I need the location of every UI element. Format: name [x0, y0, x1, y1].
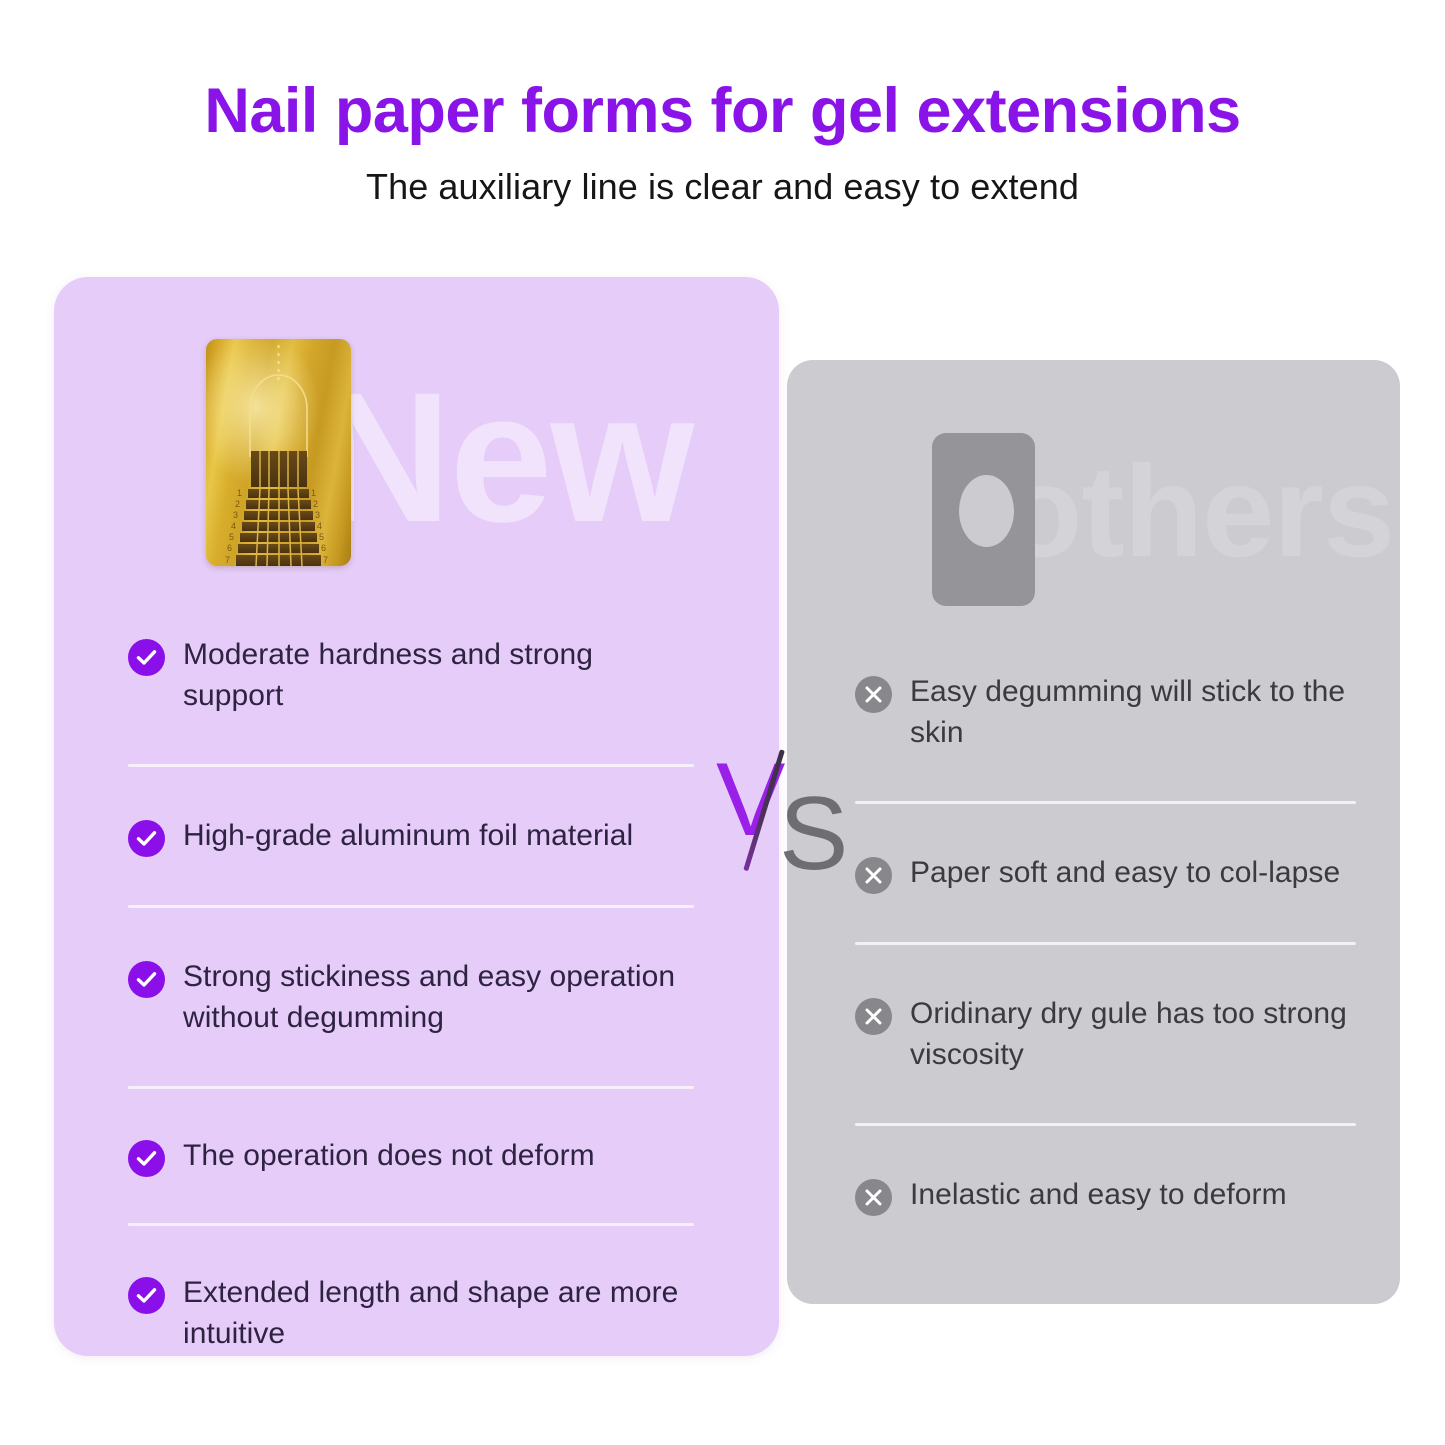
svg-text:1: 1 — [237, 488, 242, 498]
spacer — [855, 753, 1356, 801]
svg-text:5: 5 — [319, 532, 324, 542]
spacer — [855, 894, 1356, 942]
feature-text: Extended length and shape are more intui… — [183, 1272, 693, 1354]
cross-circle-icon — [855, 1179, 892, 1216]
page-title: Nail paper forms for gel extensions — [0, 78, 1445, 144]
spacer — [855, 945, 1356, 993]
feature-text: Inelastic and easy to deform — [910, 1174, 1356, 1215]
check-circle-icon — [128, 1140, 165, 1177]
cross-circle-icon — [855, 676, 892, 713]
svg-text:2: 2 — [235, 499, 240, 509]
list-item: Moderate hardness and strong support — [128, 634, 694, 716]
check-circle-icon — [128, 639, 165, 676]
spacer — [128, 1177, 694, 1223]
versus-s-letter: S — [779, 782, 848, 886]
list-item: Inelastic and easy to deform — [855, 1174, 1356, 1216]
spacer — [128, 1038, 694, 1086]
new-watermark: New — [318, 366, 692, 551]
svg-text:1: 1 — [311, 488, 316, 498]
feature-text: Strong stickiness and easy operation wit… — [183, 956, 693, 1038]
spacer — [128, 767, 694, 815]
svg-text:4: 4 — [317, 521, 322, 531]
spacer — [128, 908, 694, 956]
spacer — [855, 804, 1356, 852]
spacer — [855, 1126, 1356, 1174]
gray-form-oval-shape — [959, 475, 1014, 547]
svg-text:6: 6 — [227, 543, 232, 553]
spacer — [128, 1089, 694, 1135]
new-feature-list: Moderate hardness and strong support Hig… — [128, 634, 694, 1354]
svg-text:3: 3 — [315, 510, 320, 520]
list-item: High-grade aluminum foil material — [128, 815, 694, 857]
list-item: The operation does not deform — [128, 1135, 694, 1177]
list-item: Strong stickiness and easy operation wit… — [128, 956, 694, 1038]
spacer — [128, 716, 694, 764]
others-watermark: others — [1003, 446, 1394, 576]
feature-text: Moderate hardness and strong support — [183, 634, 693, 716]
spacer — [128, 1226, 694, 1272]
cross-circle-icon — [855, 857, 892, 894]
svg-text:5: 5 — [229, 532, 234, 542]
feature-text: High-grade aluminum foil material — [183, 815, 693, 856]
svg-text:7: 7 — [323, 555, 328, 565]
feature-text: Oridinary dry gule has too strong viscos… — [910, 993, 1356, 1075]
cross-circle-icon — [855, 998, 892, 1035]
others-feature-list: Easy degumming will stick to the skin Pa… — [855, 671, 1356, 1216]
list-item: Extended length and shape are more intui… — [128, 1272, 694, 1354]
feature-text: Paper soft and easy to col-lapse — [910, 852, 1356, 893]
svg-text:4: 4 — [231, 521, 236, 531]
spacer — [855, 1075, 1356, 1123]
check-circle-icon — [128, 820, 165, 857]
check-circle-icon — [128, 961, 165, 998]
gray-nail-form-image — [932, 433, 1035, 606]
list-item: Easy degumming will stick to the skin — [855, 671, 1356, 753]
list-item: Paper soft and easy to col-lapse — [855, 852, 1356, 894]
check-circle-icon — [128, 1277, 165, 1314]
gold-nail-form-image: 1 2 3 4 5 6 7 1 2 3 4 5 6 7 — [206, 339, 351, 566]
comparison-infographic: Nail paper forms for gel extensions The … — [0, 0, 1445, 1445]
svg-text:6: 6 — [321, 543, 326, 553]
svg-text:2: 2 — [313, 499, 318, 509]
page-subtitle: The auxiliary line is clear and easy to … — [0, 166, 1445, 208]
svg-text:3: 3 — [233, 510, 238, 520]
versus-badge: V S — [716, 748, 851, 878]
list-item: Oridinary dry gule has too strong viscos… — [855, 993, 1356, 1075]
svg-text:7: 7 — [225, 555, 230, 565]
feature-text: The operation does not deform — [183, 1135, 693, 1176]
feature-text: Easy degumming will stick to the skin — [910, 671, 1356, 753]
header: Nail paper forms for gel extensions The … — [0, 0, 1445, 208]
spacer — [128, 857, 694, 905]
